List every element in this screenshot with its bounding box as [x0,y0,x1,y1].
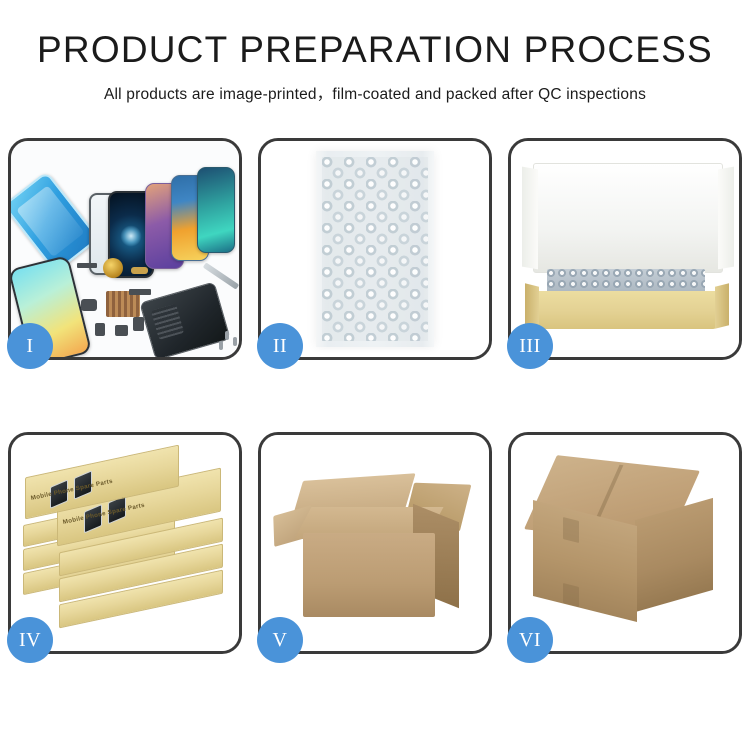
step-badge-2: II [257,323,303,369]
step-4-image: Mobile Phone Spare Parts Mobile Phone Sp… [11,435,239,651]
page-title: PRODUCT PREPARATION PROCESS [0,30,750,71]
carton-tape-mark-icon [563,583,579,607]
stacked-retail-boxes-icon: Mobile Phone Spare Parts Mobile Phone Sp… [17,457,235,637]
camera-module-part-icon [95,323,105,336]
step-badge-1: I [7,323,53,369]
process-steps-grid: I II III [8,138,742,654]
screw-icon [219,341,223,350]
step-5-image [261,435,489,651]
carton-tape-mark-icon [563,517,579,543]
step-badge-4: IV [7,617,53,663]
process-step-3[interactable]: III [508,138,742,360]
step-badge-3: III [507,323,553,369]
step-badge-6: VI [507,617,553,663]
white-box-lid-icon [533,163,723,273]
copper-coil-part-icon [103,258,123,278]
page-subtitle: All products are image-printed，film-coat… [0,82,750,104]
gold-bracket-part-icon [131,267,148,274]
vibrator-part-icon [133,317,144,331]
phone-backplate-icon [139,281,231,357]
bubble-wrap-sheet-icon [316,151,434,347]
process-step-6[interactable]: VI [508,432,742,654]
step-1-image [11,141,239,357]
process-step-4[interactable]: Mobile Phone Spare Parts Mobile Phone Sp… [8,432,242,654]
step-badge-5: V [257,617,303,663]
process-step-1[interactable]: I [8,138,242,360]
step-2-image [261,141,489,357]
screw-icon [225,331,229,340]
ribbon-cable-part-icon [129,289,151,295]
flex-cable-part-icon [77,263,97,268]
header: PRODUCT PREPARATION PROCESS All products… [0,0,750,104]
process-step-2[interactable]: II [258,138,492,360]
product-preparation-infographic: PRODUCT PREPARATION PROCESS All products… [0,0,750,750]
process-step-5[interactable]: V [258,432,492,654]
step-3-image [511,141,739,357]
yellow-box-base-icon [537,291,717,329]
phone-display-teal-icon [197,167,235,253]
screw-icon [233,337,237,346]
bubble-pattern-icon [322,157,428,341]
step-6-image [511,435,739,651]
connector-part-icon [81,299,97,311]
carton-front-panel-icon [303,533,435,617]
speaker-part-icon [115,325,128,336]
